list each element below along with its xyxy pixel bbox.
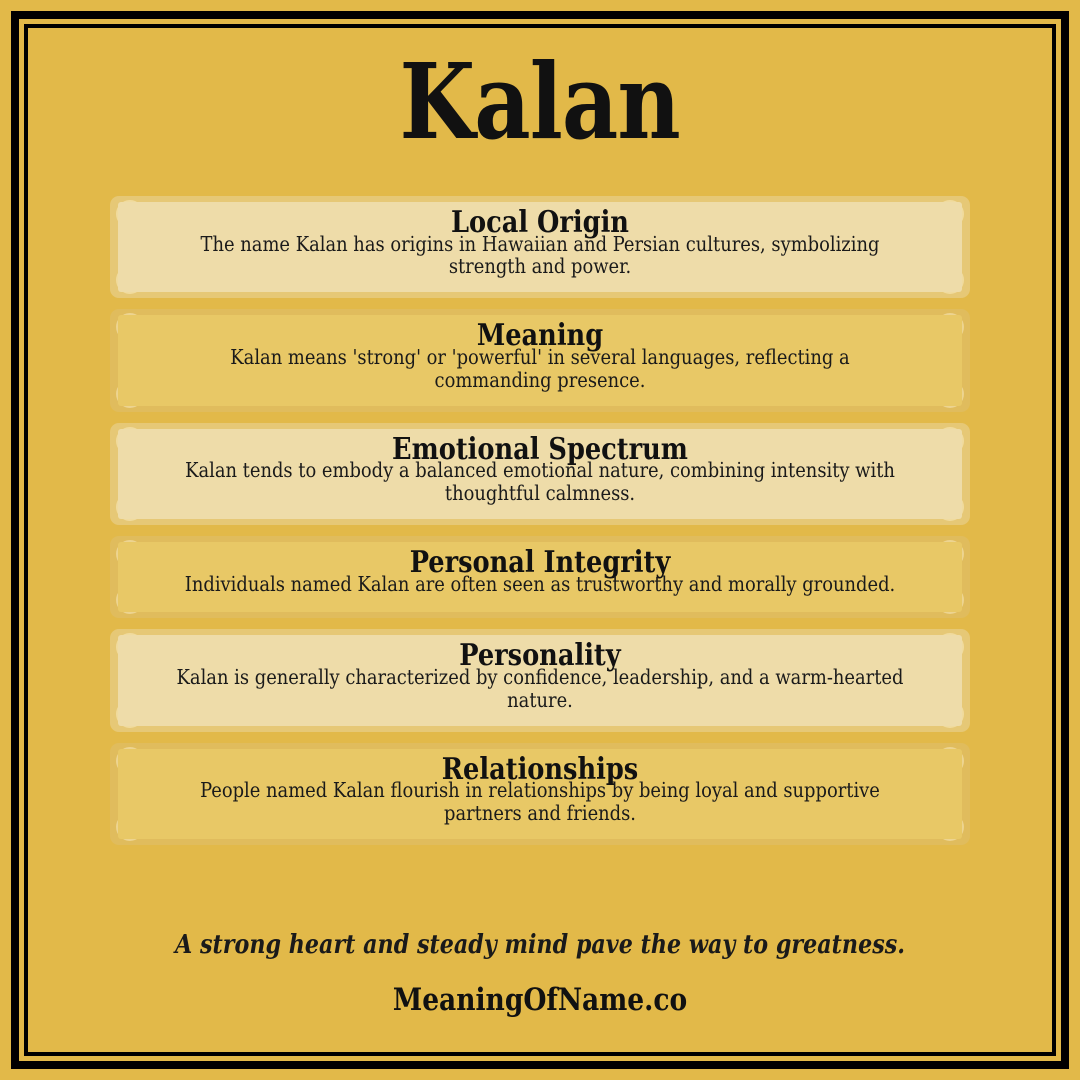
section-card: PersonalityKalan is generally characteri… [110, 629, 970, 731]
outer-border-frame: Kalan Local OriginThe name Kalan has ori… [11, 11, 1069, 1069]
footer: A strong heart and steady mind pave the … [28, 930, 1052, 1018]
section-text: Kalan tends to embody a balanced emotion… [171, 459, 908, 505]
section-card-body: MeaningKalan means 'strong' or 'powerful… [118, 315, 962, 405]
section-card-body: Emotional SpectrumKalan tends to embody … [118, 429, 962, 519]
section-card-body: PersonalityKalan is generally characteri… [118, 635, 962, 725]
section-card: Personal IntegrityIndividuals named Kala… [110, 536, 970, 618]
page-title: Kalan [400, 50, 680, 154]
footer-site-name: MeaningOfName.co [54, 982, 1027, 1018]
section-text: The name Kalan has origins in Hawaiian a… [171, 233, 908, 279]
section-text: People named Kalan flourish in relations… [171, 779, 908, 825]
inner-border-frame: Kalan Local OriginThe name Kalan has ori… [24, 24, 1056, 1056]
section-card-body: Local OriginThe name Kalan has origins i… [118, 202, 962, 292]
section-card-list: Local OriginThe name Kalan has origins i… [28, 196, 1052, 845]
section-text: Individuals named Kalan are often seen a… [171, 573, 908, 596]
poster: Kalan Local OriginThe name Kalan has ori… [0, 0, 1080, 1080]
section-card: RelationshipsPeople named Kalan flourish… [110, 743, 970, 845]
section-text: Kalan is generally characterized by conf… [171, 666, 908, 712]
section-text: Kalan means 'strong' or 'powerful' in se… [171, 346, 908, 392]
section-card-body: RelationshipsPeople named Kalan flourish… [118, 749, 962, 839]
section-card-body: Personal IntegrityIndividuals named Kala… [118, 542, 962, 612]
footer-tagline: A strong heart and steady mind pave the … [54, 930, 1027, 960]
section-card: MeaningKalan means 'strong' or 'powerful… [110, 309, 970, 411]
section-card: Local OriginThe name Kalan has origins i… [110, 196, 970, 298]
section-card: Emotional SpectrumKalan tends to embody … [110, 423, 970, 525]
